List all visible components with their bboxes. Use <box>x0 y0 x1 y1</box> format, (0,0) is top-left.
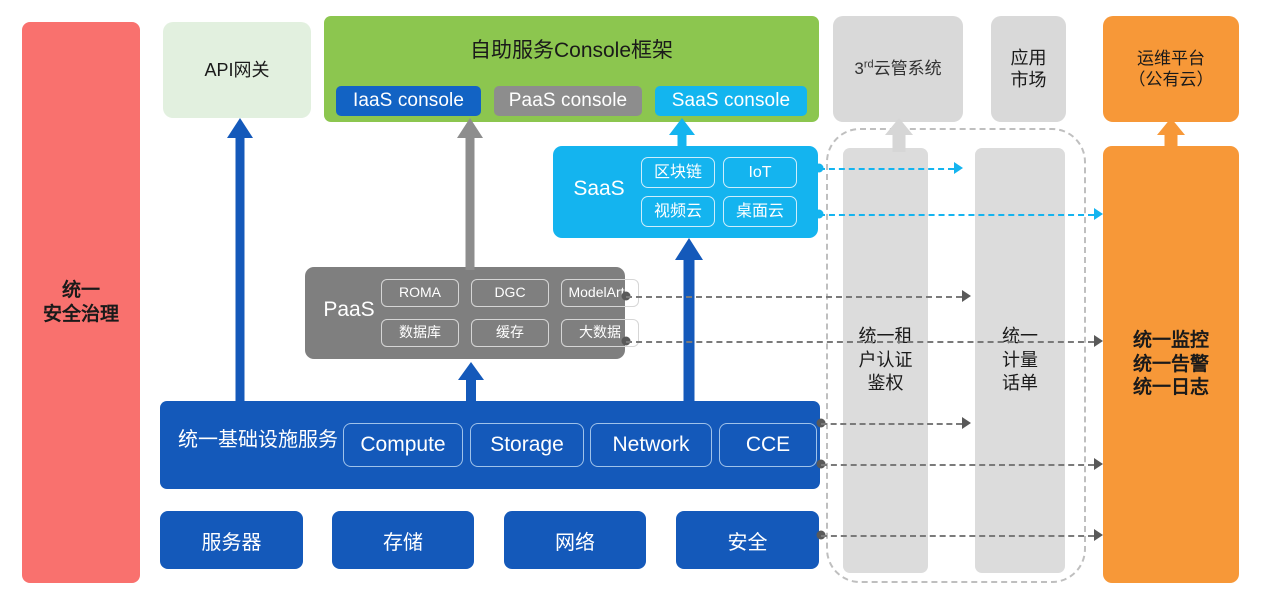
arrow-infra-to-paas <box>458 362 484 406</box>
unified-metering-column: 统一 计量 话单 <box>975 148 1065 573</box>
arrow-paas-to-console <box>457 118 483 270</box>
saas-chip-video-cloud[interactable]: 视频云 <box>641 196 715 227</box>
connector-line-paas-to-auth <box>626 296 962 298</box>
connector-arrowhead-paas-1 <box>962 290 971 302</box>
infra-chip-network[interactable]: Network <box>590 423 712 467</box>
paas-chip-dgc[interactable]: DGC <box>471 279 549 307</box>
hardware-box-storage: 存储 <box>332 511 474 569</box>
architecture-diagram: 统一 安全治理 API网关 自助服务Console框架 IaaS console… <box>0 0 1265 605</box>
connector-line-paas-to-ops <box>626 341 1094 343</box>
saas-chip-desktop-cloud[interactable]: 桌面云 <box>723 196 797 227</box>
ops-platform-box: 运维平台 （公有云） <box>1103 16 1239 122</box>
arrow-infra-to-saas <box>676 238 702 404</box>
connector-arrowhead-hardware <box>1094 529 1103 541</box>
saas-layer-box: SaaS 区块链 IoT 视频云 桌面云 <box>553 146 818 238</box>
saas-console-chip[interactable]: SaaS console <box>655 86 807 116</box>
paas-chip-cache[interactable]: 缓存 <box>471 319 549 347</box>
unified-monitoring-band: 统一监控 统一告警 统一日志 <box>1103 146 1239 583</box>
paas-layer-label: PaaS <box>315 297 383 323</box>
console-framework-title: 自助服务Console框架 <box>324 38 819 64</box>
infra-chip-compute[interactable]: Compute <box>343 423 463 467</box>
unified-tenant-auth-column: 统一租 户认证 鉴权 <box>843 148 928 573</box>
arrow-saas-to-console <box>669 118 695 150</box>
connector-line-hardware-to-ops <box>821 535 1094 537</box>
connector-arrowhead-saas-2 <box>1094 208 1103 220</box>
infrastructure-layer-label: 统一基础设施服务 <box>178 428 338 453</box>
infra-chip-storage[interactable]: Storage <box>470 423 584 467</box>
connector-arrowhead-saas-1 <box>954 162 963 174</box>
arrow-ops-band-to-ops-platform <box>1157 118 1185 150</box>
paas-chip-roma[interactable]: ROMA <box>381 279 459 307</box>
arrow-to-third-party-cloud-mgmt <box>885 118 913 150</box>
app-market-box: 应用 市场 <box>991 16 1066 122</box>
infrastructure-layer-box: 统一基础设施服务 Compute Storage Network CCE <box>160 401 820 489</box>
saas-layer-label: SaaS <box>565 176 633 202</box>
connector-line-infra-to-ops <box>821 464 1094 466</box>
arrow-infra-to-api-gateway <box>227 118 253 403</box>
hardware-box-security: 安全 <box>676 511 819 569</box>
infra-chip-cce[interactable]: CCE <box>719 423 817 467</box>
connector-line-saas-to-metering <box>819 168 954 170</box>
connector-arrowhead-paas-2 <box>1094 335 1103 347</box>
connector-arrowhead-infra-1 <box>962 417 971 429</box>
paas-console-chip[interactable]: PaaS console <box>494 86 642 116</box>
paas-chip-database[interactable]: 数据库 <box>381 319 459 347</box>
security-governance-band: 统一 安全治理 <box>22 22 140 583</box>
saas-chip-iot[interactable]: IoT <box>723 157 797 188</box>
connector-arrowhead-infra-2 <box>1094 458 1103 470</box>
paas-layer-box: PaaS ROMA DGC ModelArts 数据库 缓存 大数据 <box>305 267 625 359</box>
api-gateway-box: API网关 <box>163 22 311 118</box>
hardware-box-server: 服务器 <box>160 511 303 569</box>
connector-line-infra-to-auth <box>821 423 962 425</box>
third-party-cloud-mgmt-box: 3rd云管系统 <box>833 16 963 122</box>
iaas-console-chip[interactable]: IaaS console <box>336 86 481 116</box>
console-framework-box: 自助服务Console框架 IaaS console PaaS console … <box>324 16 819 122</box>
third-party-cloud-mgmt-label: 3rd云管系统 <box>854 58 941 79</box>
connector-line-saas-to-ops <box>819 214 1094 216</box>
hardware-box-network: 网络 <box>504 511 646 569</box>
saas-chip-blockchain[interactable]: 区块链 <box>641 157 715 188</box>
